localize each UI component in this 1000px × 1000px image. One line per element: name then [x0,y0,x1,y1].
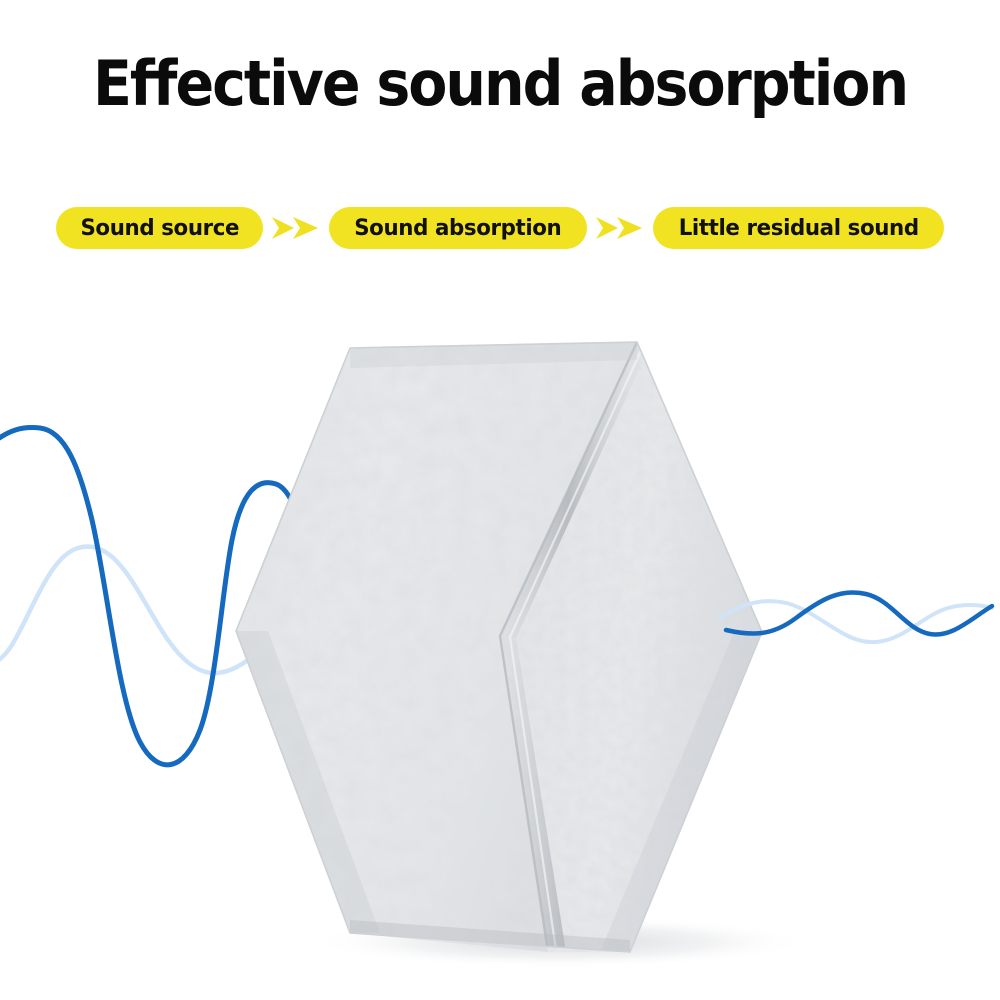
badge-label: Little residual sound [679,216,919,241]
badge-sound-source: Sound source [56,207,264,249]
promo-graphic: Effective sound absorption Sound source … [0,0,1000,1000]
double-chevron-right-icon [587,207,653,249]
incoming-soundwave-strong [0,428,456,765]
badge-sound-absorption: Sound absorption [329,207,587,249]
incoming-soundwave-group [0,0,1000,1000]
panel-facet-left [236,342,637,952]
panel-edge-shading [236,342,762,952]
page-title: Effective sound absorption [40,48,960,120]
panel-outline [236,342,762,952]
panel-fold-ridge [500,342,650,952]
double-chevron-right-icon [263,207,329,249]
acoustic-panel [0,0,1000,1000]
badge-little-residual-sound: Little residual sound [653,207,944,249]
incoming-soundwave-faint [0,547,472,674]
panel-shadow [310,916,810,968]
residual-soundwave-group [0,0,1000,1000]
residual-soundwave-strong [726,592,992,634]
badge-label: Sound absorption [354,216,561,241]
panel-facet-right [500,342,762,952]
residual-soundwave-faint [720,601,992,642]
process-steps: Sound source Sound absorption Little res… [0,205,1000,251]
badge-label: Sound source [80,216,239,241]
